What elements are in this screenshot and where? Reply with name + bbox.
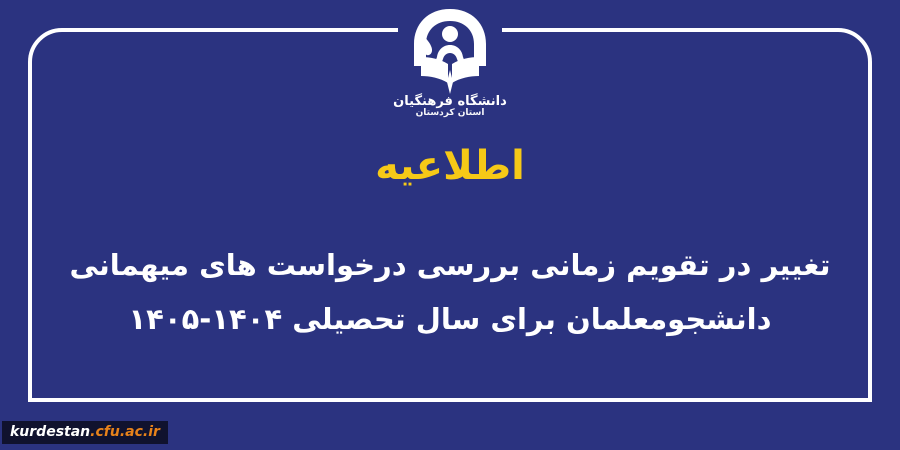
announcement-kicker: اطلاعیه	[0, 142, 900, 190]
university-crest: دانشگاه فرهنگیان استان کردستان	[365, 4, 535, 119]
announcement-title-line-2: دانشجومعلمان برای سال تحصیلی ۱۴۰۴-۱۴۰۵	[60, 292, 840, 346]
watermark-site-name: kurdestan	[10, 424, 90, 440]
watermark-site-domain: .cfu.ac.ir	[90, 424, 160, 440]
announcement-poster: دانشگاه فرهنگیان استان کردستان اطلاعیه ت…	[0, 0, 900, 450]
farhangian-university-crest-icon	[402, 4, 498, 96]
announcement-title: تغییر در تقویم زمانی بررسی درخواست های م…	[60, 238, 840, 346]
crest-province-name: استان کردستان	[365, 107, 535, 119]
announcement-title-line-1: تغییر در تقویم زمانی بررسی درخواست های م…	[60, 238, 840, 292]
site-watermark: kurdestan.cfu.ac.ir	[2, 421, 168, 444]
